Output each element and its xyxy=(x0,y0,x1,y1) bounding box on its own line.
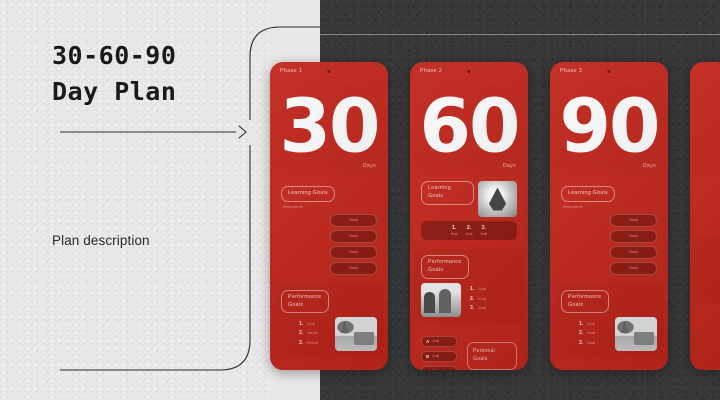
day-count: 30 xyxy=(280,90,379,164)
item-key: A xyxy=(426,339,429,344)
camera-notch-icon xyxy=(327,70,330,73)
learning-goal-buttons: Goal Goal Goal Goal xyxy=(281,214,377,275)
item-text: Goal xyxy=(478,297,486,301)
list-item: 1.Goal xyxy=(299,321,330,327)
personal-goals-row: AGoal BGoal CGoal Personal Goals xyxy=(421,336,517,370)
item-text: Goal xyxy=(307,322,315,326)
performance-goal-list: 1.Goal 2.Target 3.Result xyxy=(281,317,330,346)
card-2-performance-goals-section[interactable]: Performance Goals 1.Goal 2.Goal 3.Goal xyxy=(414,249,524,323)
performance-goal-list: 1.Goal 2.Goal 3.Goal xyxy=(561,317,610,346)
learning-goals-pill: Learning Goals xyxy=(281,186,335,202)
camera-notch-icon xyxy=(467,70,470,73)
performance-goal-list: 1.Goal 2.Goal 3.Goal xyxy=(466,283,517,312)
list-item[interactable]: CGoal xyxy=(421,366,457,370)
item-value: Goal xyxy=(432,369,439,370)
performance-goals-title: Performance Goals xyxy=(428,259,462,275)
list-item: 2.Goal xyxy=(466,225,473,236)
card-4-section-1 xyxy=(694,175,720,235)
learning-goals-title: Learning Goals xyxy=(288,190,328,198)
item-value: Goal xyxy=(432,339,439,343)
learning-goal-buttons: Goal Goal Goal Goal xyxy=(561,214,657,275)
personal-goals-title: Personal Goals xyxy=(473,348,511,364)
card-1-hero: 30 Days xyxy=(274,84,384,172)
phase-card-2[interactable]: Phase 2 60 Days Learning Goals 1.Goal 2.… xyxy=(410,62,528,370)
goal-button-label: Goal xyxy=(629,218,638,222)
item-number: 1. xyxy=(299,321,303,327)
list-item: 1.Goal xyxy=(470,286,517,292)
people-photo xyxy=(421,283,461,317)
goal-button-label: Goal xyxy=(349,250,358,254)
item-text: Goal xyxy=(587,322,595,326)
item-text: Goal xyxy=(478,287,486,291)
goal-button[interactable]: Goal xyxy=(610,214,657,227)
card-3-performance-goals-section[interactable]: Performance Goals 1.Goal 2.Goal 3.Goal xyxy=(554,284,664,358)
item-number: 1. xyxy=(451,225,458,231)
phase-card-track: Phase 1 30 Days Learning Goals Resources… xyxy=(0,0,720,400)
learning-goals-subtext: Resources xyxy=(283,205,377,209)
performance-goals-pill: Performance Goals xyxy=(281,290,329,314)
goal-button-label: Goal xyxy=(629,250,638,254)
list-item: 2.Goal xyxy=(470,296,517,302)
learning-goals-title: Learning Goals xyxy=(568,190,608,198)
item-number: 1. xyxy=(470,286,474,292)
card-3-learning-goals-section[interactable]: Learning Goals Resources Goal Goal Goal … xyxy=(554,175,664,281)
list-item[interactable]: AGoal xyxy=(421,336,457,347)
goal-button[interactable]: Goal xyxy=(330,230,377,243)
item-text: Result xyxy=(307,341,318,345)
personal-goal-list: AGoal BGoal CGoal xyxy=(421,336,457,370)
day-count: 90 xyxy=(560,90,659,164)
card-3-hero: 90 Days xyxy=(554,84,664,172)
phase-label: Phase 3 xyxy=(560,68,582,74)
goal-button-label: Goal xyxy=(349,218,358,222)
item-number: 2. xyxy=(470,296,474,302)
performance-goals-row: 1.Goal 2.Goal 3.Goal xyxy=(561,317,657,351)
item-key: C xyxy=(426,369,429,370)
goal-button[interactable]: Goal xyxy=(610,262,657,275)
learning-goals-pill: Learning Goals xyxy=(561,186,615,202)
performance-goals-pill: Performance Goals xyxy=(421,255,469,279)
performance-goals-title: Performance Goals xyxy=(288,294,322,310)
item-text: Goal xyxy=(587,341,595,345)
goal-button-label: Goal xyxy=(629,234,638,238)
card-1-header: Phase 1 xyxy=(270,62,388,84)
days-label: Days xyxy=(643,163,656,169)
learning-goals-row: Learning Goals xyxy=(421,181,517,217)
item-text: Goal xyxy=(480,232,487,236)
slide-canvas: 30-60-90 Day Plan Plan description Phase… xyxy=(0,0,720,400)
card-2-personal-goals-section[interactable]: AGoal BGoal CGoal Personal Goals xyxy=(414,326,524,370)
card-3-personal-goals-section[interactable]: AGoal BGoal CGoal Personal Goals xyxy=(554,360,664,370)
item-number: 1. xyxy=(579,321,583,327)
item-number: 3. xyxy=(579,340,583,346)
sketch-photo xyxy=(478,181,517,217)
item-number: 2. xyxy=(579,330,583,336)
days-label: Days xyxy=(363,163,376,169)
item-text: Goal xyxy=(451,232,458,236)
card-2-learning-goals-section[interactable]: Learning Goals 1.Goal 2.Goal 3.Goal xyxy=(414,175,524,246)
goal-button-label: Goal xyxy=(629,266,638,270)
card-1-personal-goals-section[interactable]: AGoal BGoal CGoal Personal Goals xyxy=(274,360,384,370)
item-number: 3. xyxy=(480,225,487,231)
item-text: Target xyxy=(307,331,318,335)
phase-card-1[interactable]: Phase 1 30 Days Learning Goals Resources… xyxy=(270,62,388,370)
phase-card-4-partial[interactable] xyxy=(690,62,720,370)
personal-goals-pill: Personal Goals xyxy=(467,342,517,370)
days-label: Days xyxy=(503,163,516,169)
goal-button[interactable]: Goal xyxy=(610,230,657,243)
desk-photo xyxy=(335,317,377,351)
list-item: 1.Goal xyxy=(451,225,458,236)
list-item: 3.Goal xyxy=(480,225,487,236)
learning-goal-numbers: 1.Goal 2.Goal 3.Goal xyxy=(421,221,517,240)
goal-button-label: Goal xyxy=(349,234,358,238)
item-text: Goal xyxy=(587,331,595,335)
card-4-section-2 xyxy=(694,238,720,302)
performance-goals-pill: Performance Goals xyxy=(561,290,609,314)
list-item: 3.Goal xyxy=(579,340,610,346)
card-3-header: Phase 3 xyxy=(550,62,668,84)
camera-notch-icon xyxy=(607,70,610,73)
goal-button-label: Goal xyxy=(349,266,358,270)
desk-photo xyxy=(615,317,657,351)
day-count: 60 xyxy=(420,90,519,164)
card-1-performance-goals-section[interactable]: Performance Goals 1.Goal 2.Target 3.Resu… xyxy=(274,284,384,358)
learning-goals-pill: Learning Goals xyxy=(421,181,474,205)
goal-button[interactable]: Goal xyxy=(610,246,657,259)
card-1-learning-goals-section[interactable]: Learning Goals Resources Goal Goal Goal … xyxy=(274,175,384,281)
phase-label: Phase 2 xyxy=(420,68,442,74)
goal-button[interactable]: Goal xyxy=(330,262,377,275)
card-4-section-3 xyxy=(694,305,720,370)
performance-goals-row: 1.Goal 2.Goal 3.Goal xyxy=(421,283,517,317)
phase-label: Phase 1 xyxy=(280,68,302,74)
item-number: 3. xyxy=(299,340,303,346)
list-item: 3.Goal xyxy=(470,305,517,311)
learning-goals-subtext: Resources xyxy=(563,205,657,209)
list-item[interactable]: BGoal xyxy=(421,351,457,362)
list-item: 2.Goal xyxy=(579,330,610,336)
goal-button[interactable]: Goal xyxy=(330,214,377,227)
list-item: 3.Result xyxy=(299,340,330,346)
list-item: 1.Goal xyxy=(579,321,610,327)
card-4-hero xyxy=(694,84,720,172)
item-number: 2. xyxy=(466,225,473,231)
item-number: 3. xyxy=(470,305,474,311)
card-4-header xyxy=(690,62,720,84)
card-2-hero: 60 Days xyxy=(414,84,524,172)
item-key: B xyxy=(426,354,429,359)
performance-goals-row: 1.Goal 2.Target 3.Result xyxy=(281,317,377,351)
card-2-header: Phase 2 xyxy=(410,62,528,84)
item-number: 2. xyxy=(299,330,303,336)
learning-goals-title: Learning Goals xyxy=(428,185,467,201)
item-text: Goal xyxy=(478,306,486,310)
phase-card-3[interactable]: Phase 3 90 Days Learning Goals Resources… xyxy=(550,62,668,370)
item-text: Goal xyxy=(466,232,473,236)
item-value: Goal xyxy=(432,354,439,358)
goal-button[interactable]: Goal xyxy=(330,246,377,259)
list-item: 2.Target xyxy=(299,330,330,336)
performance-goals-title: Performance Goals xyxy=(568,294,602,310)
